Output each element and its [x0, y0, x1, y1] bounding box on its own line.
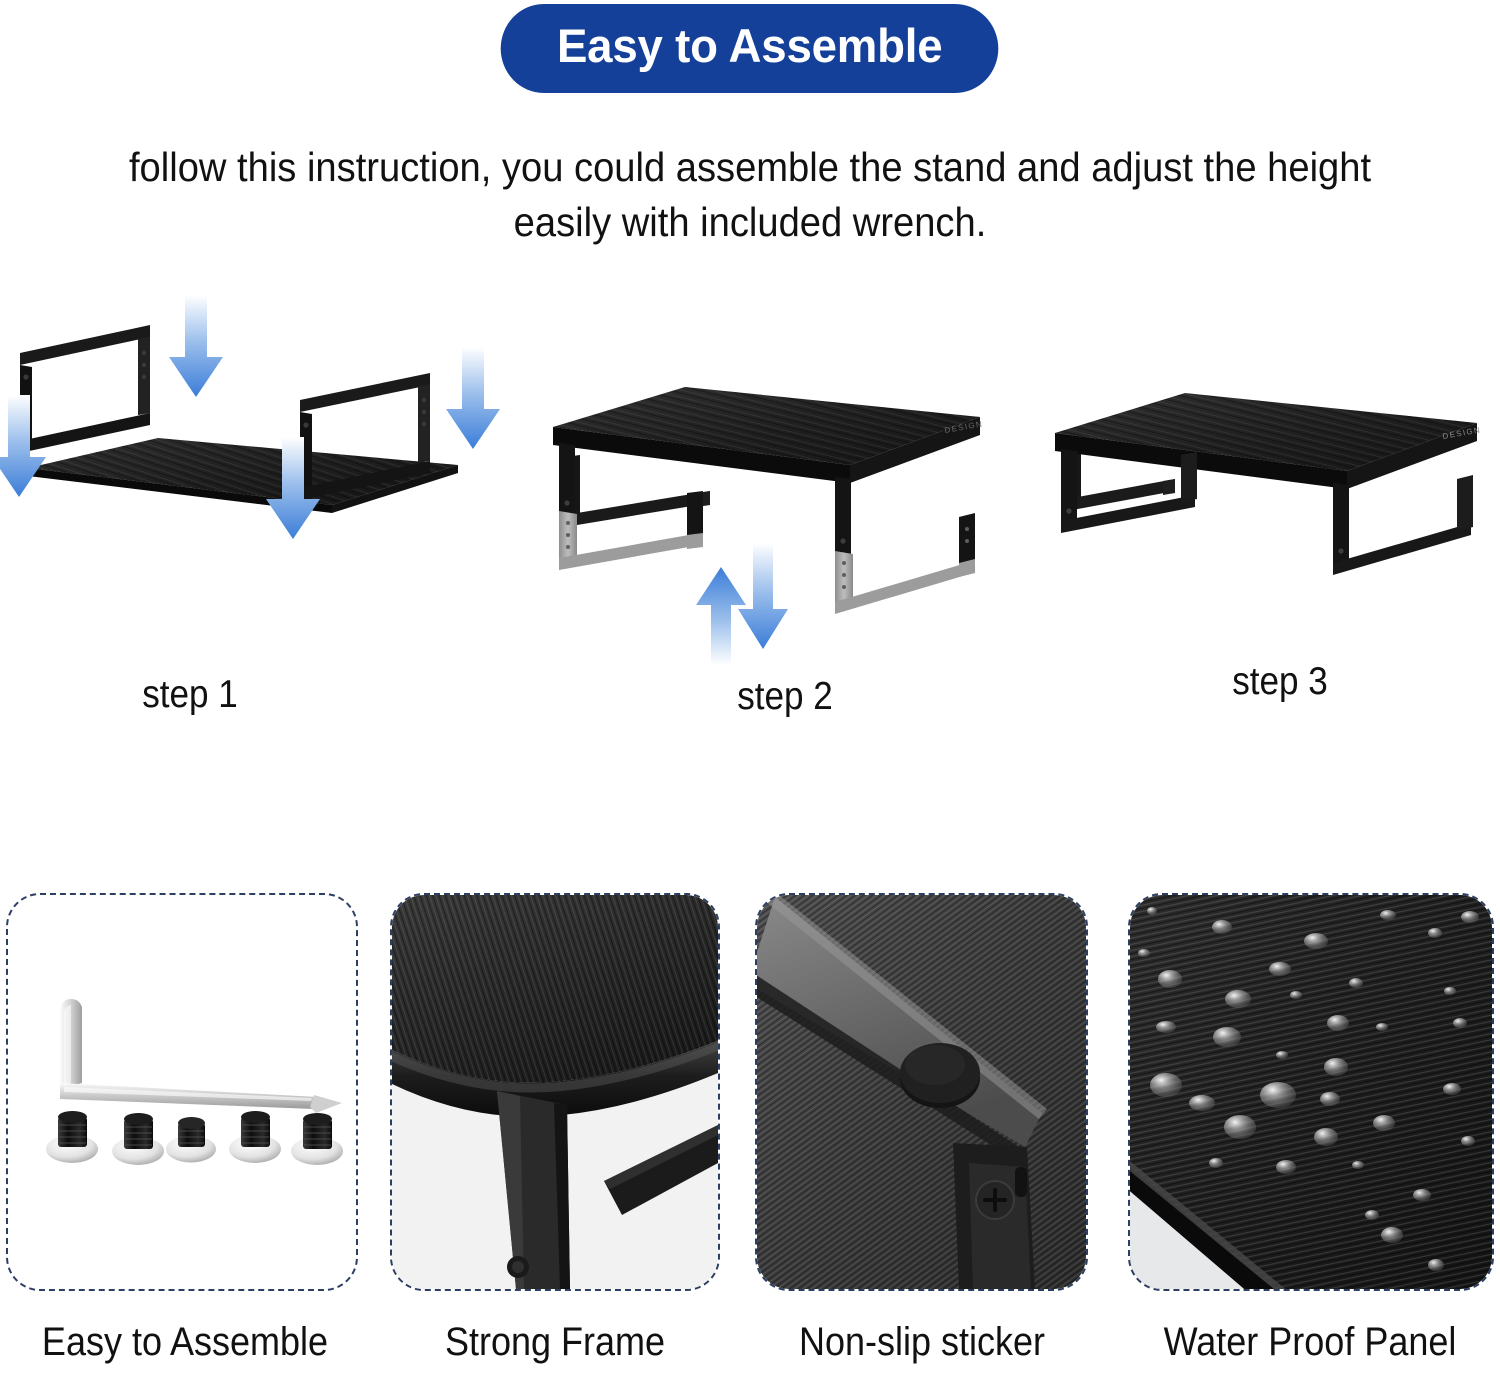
screw-4 — [229, 1111, 281, 1163]
feature-label-non-slip-sticker: Non-slip sticker — [765, 1320, 1078, 1365]
arrow-down-1 — [169, 295, 223, 397]
feature-panel-easy-to-assemble — [6, 893, 358, 1291]
panel-image-water-droplets — [1130, 895, 1492, 1289]
leg-bracket — [953, 1143, 1035, 1289]
feature-panels — [0, 893, 1500, 1293]
screw-2 — [112, 1113, 164, 1165]
step-2-label: step 2 — [650, 675, 920, 719]
panel-image-frame-corner — [392, 895, 718, 1289]
arrow-up — [696, 567, 746, 665]
hex-wrench-icon — [60, 999, 342, 1113]
step-1-illustration: step 1 — [0, 285, 520, 665]
panel-image-non-slip-pad — [757, 895, 1086, 1289]
left-leg — [20, 325, 150, 453]
subtitle-line-1: follow this instruction, you could assem… — [104, 140, 1397, 195]
step-3-graphic: DESIGN — [1025, 375, 1495, 635]
feature-label-strong-frame: Strong Frame — [398, 1320, 713, 1365]
screw-5 — [291, 1113, 343, 1165]
wood-panel-top-3: DESIGN — [1055, 393, 1482, 489]
step-1-label: step 1 — [55, 673, 325, 717]
assembly-steps: step 1 — [0, 285, 1500, 745]
infographic-page: Easy to Assemble follow this instruction… — [0, 0, 1500, 1395]
front-right-leg — [835, 477, 975, 614]
non-slip-pad-icon — [900, 1043, 980, 1108]
feature-label-water-proof-panel: Water Proof Panel — [1139, 1320, 1481, 1365]
header-badge: Easy to Assemble — [501, 4, 999, 93]
arrow-down-3 — [446, 347, 500, 449]
subtitle-line-2: easily with included wrench. — [104, 195, 1397, 250]
screw-3 — [166, 1117, 216, 1163]
arrow-down — [738, 543, 788, 649]
screw-1 — [46, 1111, 98, 1163]
feature-label-easy-to-assemble: Easy to Assemble — [19, 1320, 352, 1365]
step-3-label: step 3 — [1145, 660, 1415, 704]
feature-panel-water-proof — [1128, 893, 1494, 1291]
step-1-graphic — [0, 285, 520, 665]
subtitle: follow this instruction, you could assem… — [104, 140, 1397, 249]
feature-panel-strong-frame — [390, 893, 720, 1291]
step-3-illustration: DESIGN step 3 — [1025, 375, 1495, 635]
feature-labels: Easy to Assemble Strong Frame Non-slip s… — [0, 1320, 1500, 1390]
feature-panel-non-slip-sticker — [755, 893, 1088, 1291]
front-right-leg-3 — [1333, 475, 1473, 575]
step-2-graphic: DESIGN — [525, 365, 1005, 675]
header-badge-container: Easy to Assemble — [0, 4, 1500, 93]
panel-image-wrench-and-screws — [8, 895, 356, 1289]
step-2-illustration: DESIGN — [525, 365, 1005, 675]
wood-panel-top: DESIGN — [553, 387, 984, 483]
